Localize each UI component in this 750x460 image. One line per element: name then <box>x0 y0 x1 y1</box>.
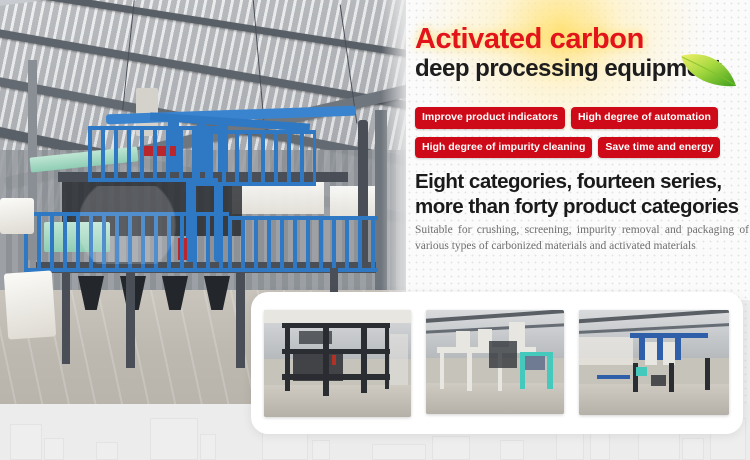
thumb-machine <box>299 331 331 344</box>
title-block: Activated carbon deep processing equipme… <box>415 24 750 83</box>
thumb-hopper <box>456 331 470 348</box>
headline: Eight categories, fourteen series, more … <box>415 170 750 219</box>
thumb-conveyor <box>597 375 630 379</box>
thumb-worker <box>525 356 544 371</box>
thumb-pallet <box>651 375 666 386</box>
badge-improve-product-indicators[interactable]: Improve product indicators <box>415 107 565 129</box>
thumb-machine <box>489 341 517 368</box>
badge-high-degree-of-automation[interactable]: High degree of automation <box>571 107 718 129</box>
thumb-floor <box>426 383 564 414</box>
title-line-1: Activated carbon <box>415 24 750 54</box>
thumb-control-box <box>636 367 647 376</box>
thumb-ceiling <box>264 310 411 323</box>
activated-carbon-banner: Activated carbon deep processing equipme… <box>0 0 750 460</box>
thumb-wall-panel <box>579 337 633 364</box>
thumbnail-carbonization-plant[interactable] <box>264 310 411 417</box>
support-leg <box>62 272 70 364</box>
headline-line-2: more than forty product categories <box>415 195 750 220</box>
thumb-structure <box>282 323 391 328</box>
feature-badges: Improve product indicators High degree o… <box>415 107 750 166</box>
title-line-2: deep processing equipment <box>415 56 750 82</box>
thumb-blue-duct <box>675 337 681 360</box>
headline-line-1: Eight categories, fourteen series, <box>415 170 750 195</box>
photo-watermark <box>80 186 340 264</box>
material-sack <box>4 270 56 339</box>
thumb-leg <box>467 352 471 392</box>
thumb-column <box>361 325 367 393</box>
thumbnail-list <box>264 310 729 417</box>
thumb-leg <box>669 363 674 392</box>
support-leg <box>126 272 135 368</box>
support-leg <box>236 272 245 368</box>
badge-row: High degree of impurity cleaning Save ti… <box>415 137 750 159</box>
description-text: Suitable for crushing, screening, impuri… <box>415 222 749 255</box>
thumb-hopper <box>645 342 657 365</box>
thumbnail-card <box>251 292 743 434</box>
thumbnail-packaging-line[interactable] <box>579 310 729 415</box>
thumb-window <box>390 334 408 385</box>
badge-row: Improve product indicators High degree o… <box>415 107 750 129</box>
badge-save-time-and-energy[interactable]: Save time and energy <box>598 137 720 159</box>
safety-railing <box>196 130 316 186</box>
thumb-column <box>285 325 291 391</box>
thumbnail-screening-line[interactable] <box>426 310 564 414</box>
thumb-leg <box>440 352 444 389</box>
thumb-hopper <box>663 342 675 365</box>
thumb-leg <box>705 358 710 390</box>
thumb-teal-frame <box>547 352 553 389</box>
thumb-column <box>385 327 389 389</box>
badge-high-degree-of-impurity-cleaning[interactable]: High degree of impurity cleaning <box>415 137 592 159</box>
material-sack <box>0 198 34 234</box>
thumb-red-part <box>332 355 336 365</box>
